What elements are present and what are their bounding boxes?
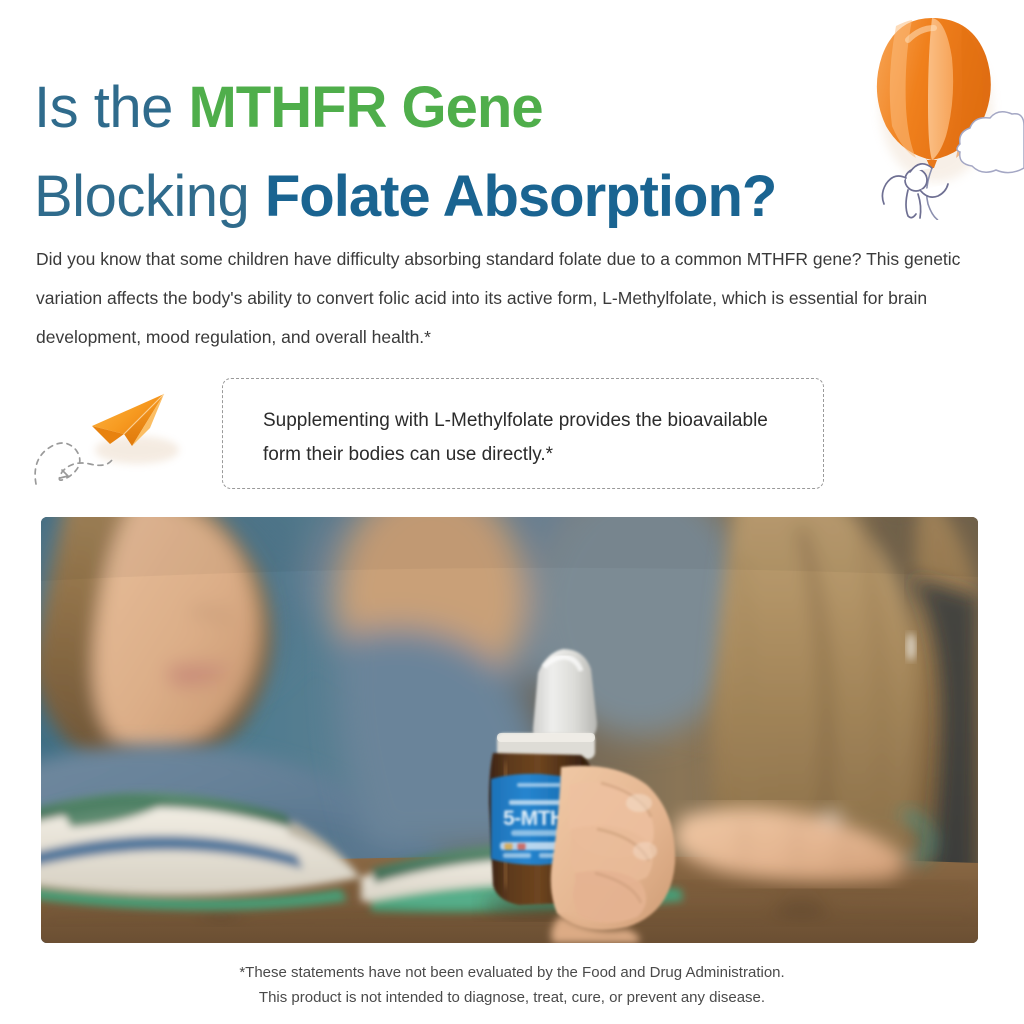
- plane-body: [92, 394, 164, 446]
- photo-illustration: 5-MTHF: [41, 517, 978, 943]
- paper-airplane-doodle: [32, 388, 212, 494]
- cloud-icon: [957, 112, 1024, 173]
- headline-line-2-accent: Folate Absorption?: [265, 164, 776, 229]
- headline-line-2: Blocking Folate Absorption?: [34, 161, 894, 247]
- headline-line-2-thin: Blocking: [34, 164, 265, 229]
- paper-airplane-illustration: [32, 388, 212, 494]
- balloon-string: [927, 168, 938, 220]
- balloon-shadow: [880, 34, 992, 182]
- headline-line-1-thin: Is the: [34, 75, 188, 140]
- product-lifestyle-photo: 5-MTHF: [41, 517, 978, 943]
- infographic-page: Is the MTHFR Gene Blocking Folate Absorp…: [0, 0, 1024, 1024]
- body-paragraph-text: Did you know that some children have dif…: [36, 240, 966, 357]
- headline-line-1-accent: MTHFR Gene: [188, 75, 542, 140]
- disclaimer-line-2: This product is not intended to diagnose…: [0, 985, 1024, 1010]
- dashed-trail-icon: [35, 443, 112, 484]
- page-title: Is the MTHFR Gene Blocking Folate Absorp…: [34, 72, 894, 247]
- trail-arrow-icon: [60, 470, 68, 478]
- headline-line-1: Is the MTHFR Gene: [34, 72, 894, 158]
- disclaimer-line-1: *These statements have not been evaluate…: [0, 960, 1024, 985]
- callout-text: Supplementing with L-Methylfolate provid…: [263, 404, 793, 472]
- disclaimer: *These statements have not been evaluate…: [0, 960, 1024, 1010]
- body-paragraph: Did you know that some children have dif…: [36, 240, 966, 357]
- plane-shadow: [95, 436, 179, 464]
- callout-box: Supplementing with L-Methylfolate provid…: [222, 378, 824, 489]
